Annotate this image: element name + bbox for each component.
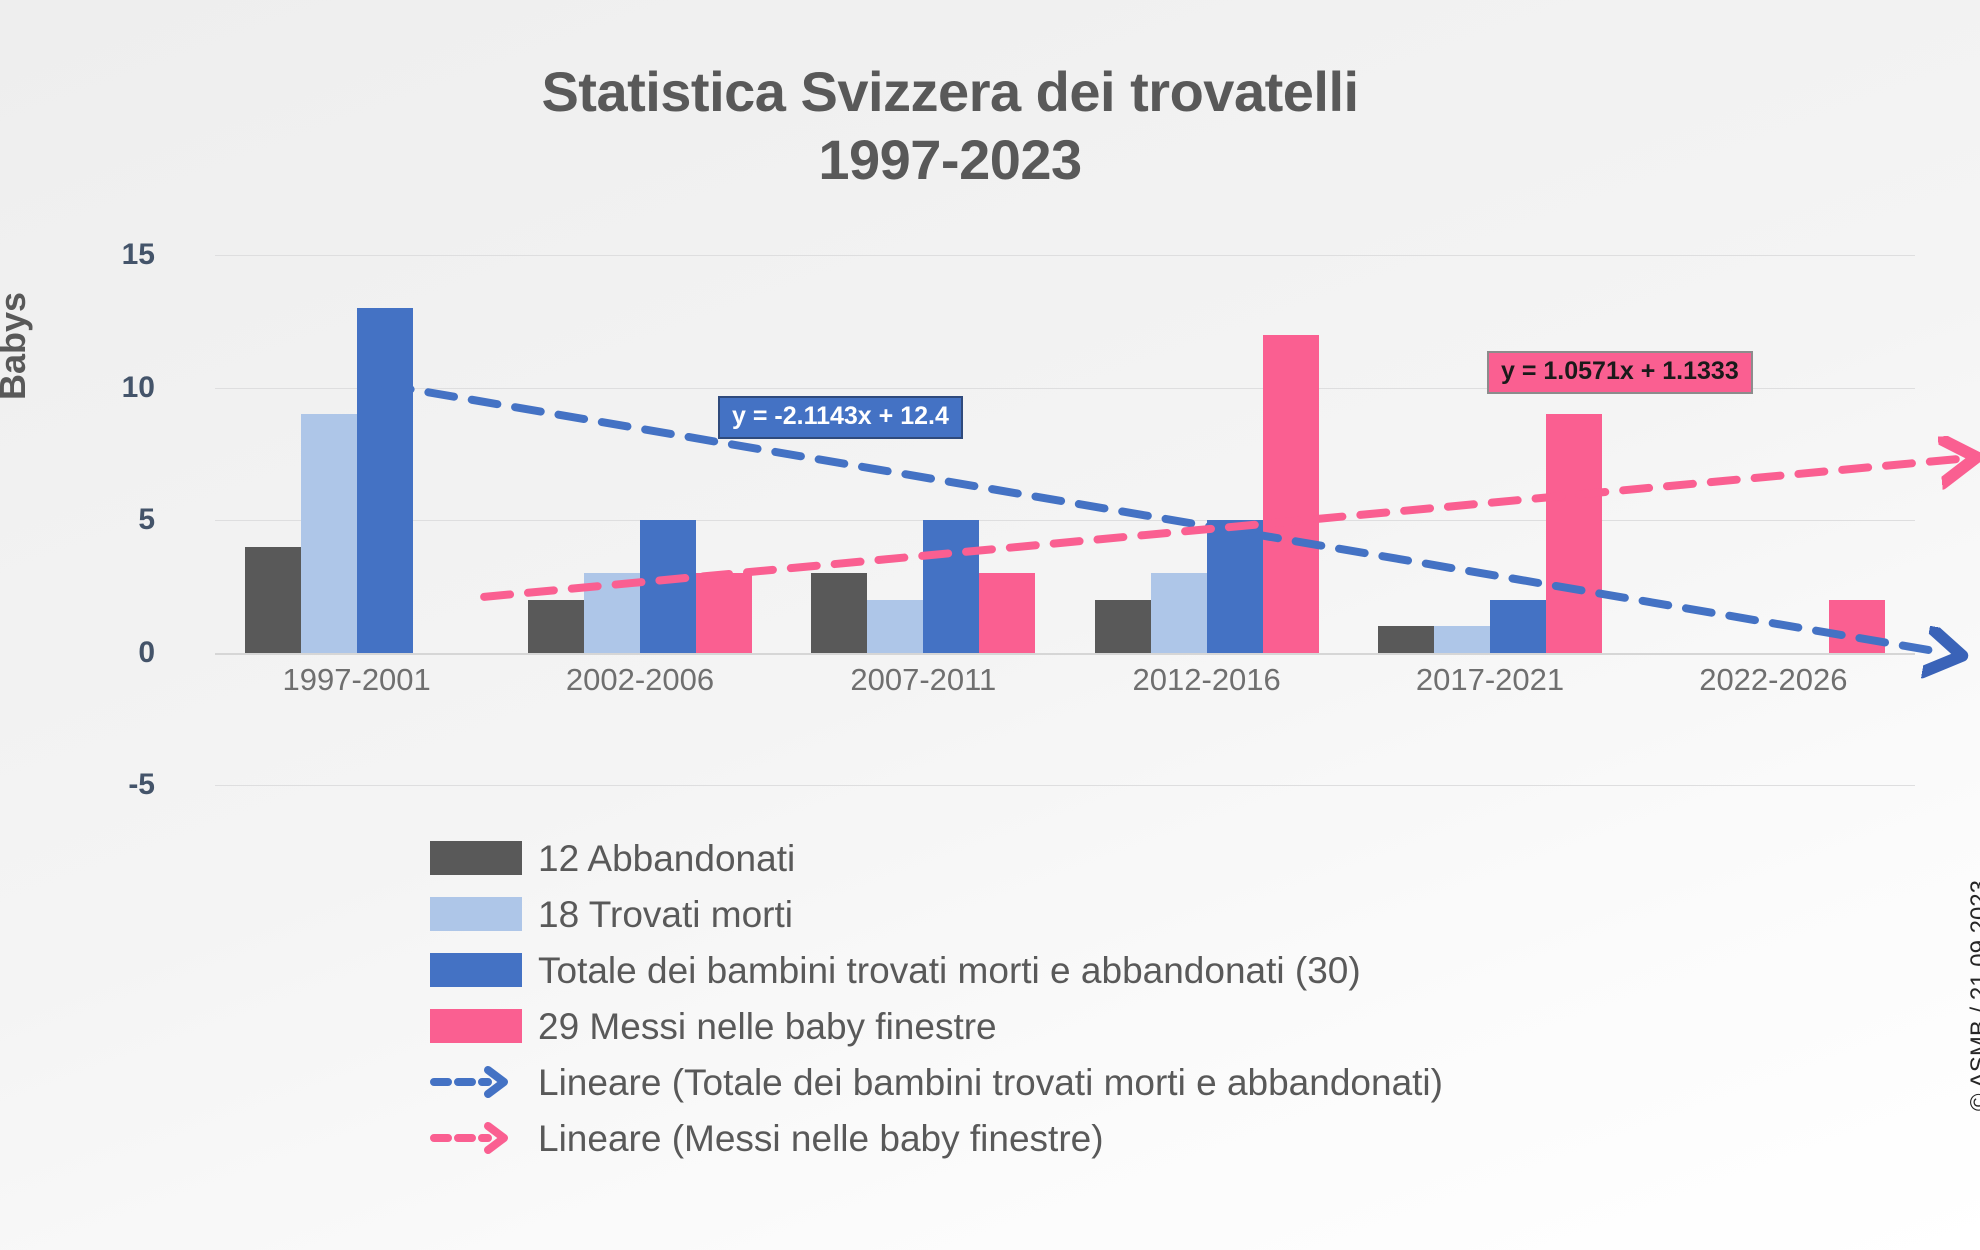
y-axis-tick-label: 15 <box>95 238 155 272</box>
y-axis-tick-labels: 151050-5 <box>95 255 155 785</box>
gridline-15 <box>215 255 1915 256</box>
legend-item-label: Lineare (Totale dei bambini trovati mort… <box>538 1064 1443 1101</box>
legend-item[interactable]: Lineare (Messi nelle baby finestre) <box>430 1110 1830 1166</box>
legend-item-label: 12 Abbandonati <box>538 840 795 877</box>
legend-item-label: 29 Messi nelle baby finestre <box>538 1008 997 1045</box>
chart-title-line-1: Statistica Svizzera dei trovatelli <box>541 60 1358 123</box>
legend-item[interactable]: 12 Abbandonati <box>430 830 1830 886</box>
color-swatch <box>430 953 522 987</box>
dashed-arrow-icon <box>430 1121 522 1155</box>
y-axis-tick-label: 10 <box>95 371 155 405</box>
legend-item-label: 18 Trovati morti <box>538 896 793 933</box>
legend-item[interactable]: Totale dei bambini trovati morti e abban… <box>430 942 1830 998</box>
bar <box>811 573 867 653</box>
y-axis-tick-label: -5 <box>95 768 155 802</box>
x-axis-tick-label: 2022-2026 <box>1699 662 1847 698</box>
bar <box>1095 600 1151 653</box>
bar <box>1151 573 1207 653</box>
trendline-equation-pink: y = 1.0571x + 1.1333 <box>1487 351 1753 394</box>
bar <box>640 520 696 653</box>
bar <box>979 573 1035 653</box>
color-swatch <box>430 1009 522 1043</box>
bar <box>1207 520 1263 653</box>
legend-item[interactable]: Lineare (Totale dei bambini trovati mort… <box>430 1054 1830 1110</box>
x-axis-tick-label: 2007-2011 <box>850 662 996 698</box>
y-axis-tick-label: 5 <box>95 503 155 537</box>
copyright-notice: © ASMB / 21.09.2023 <box>1966 880 1980 1111</box>
dashed-arrow-icon <box>430 1065 522 1099</box>
color-swatch <box>430 841 522 875</box>
gridline--5 <box>215 785 1915 786</box>
chart-canvas: Statistica Svizzera dei trovatelli 1997-… <box>0 0 1980 1250</box>
y-axis-tick-label: 0 <box>95 636 155 670</box>
bar <box>1263 335 1319 653</box>
gridline-0 <box>215 653 1915 655</box>
bar <box>1434 626 1490 653</box>
bar <box>584 573 640 653</box>
x-axis-tick-labels: 1997-20012002-20062007-20112012-20162017… <box>215 662 1915 712</box>
bar <box>528 600 584 653</box>
legend-item[interactable]: 29 Messi nelle baby finestre <box>430 998 1830 1054</box>
x-axis-tick-label: 2017-2021 <box>1416 662 1564 698</box>
bar <box>357 308 413 653</box>
bar <box>245 547 301 653</box>
legend-item-label: Lineare (Messi nelle baby finestre) <box>538 1120 1104 1157</box>
page-title: Statistica Svizzera dei trovatelli 1997-… <box>0 58 1900 195</box>
bar <box>1378 626 1434 653</box>
trendline-equation-blue: y = -2.1143x + 12.4 <box>718 396 963 439</box>
bar <box>867 600 923 653</box>
chart-title-line-2: 1997-2023 <box>0 126 1900 194</box>
chart-legend: 12 Abbandonati18 Trovati mortiTotale dei… <box>430 830 1830 1166</box>
gridline-5 <box>215 520 1915 521</box>
bar <box>923 520 979 653</box>
legend-item-label: Totale dei bambini trovati morti e abban… <box>538 952 1361 989</box>
x-axis-tick-label: 1997-2001 <box>283 662 431 698</box>
bar <box>696 573 752 653</box>
x-axis-tick-label: 2012-2016 <box>1133 662 1281 698</box>
x-axis-tick-label: 2002-2006 <box>566 662 714 698</box>
bar <box>1490 600 1546 653</box>
legend-item[interactable]: 18 Trovati morti <box>430 886 1830 942</box>
bar <box>1546 414 1602 653</box>
bar <box>1829 600 1885 653</box>
color-swatch <box>430 897 522 931</box>
bar <box>301 414 357 653</box>
y-axis-title: Babys <box>0 292 34 400</box>
